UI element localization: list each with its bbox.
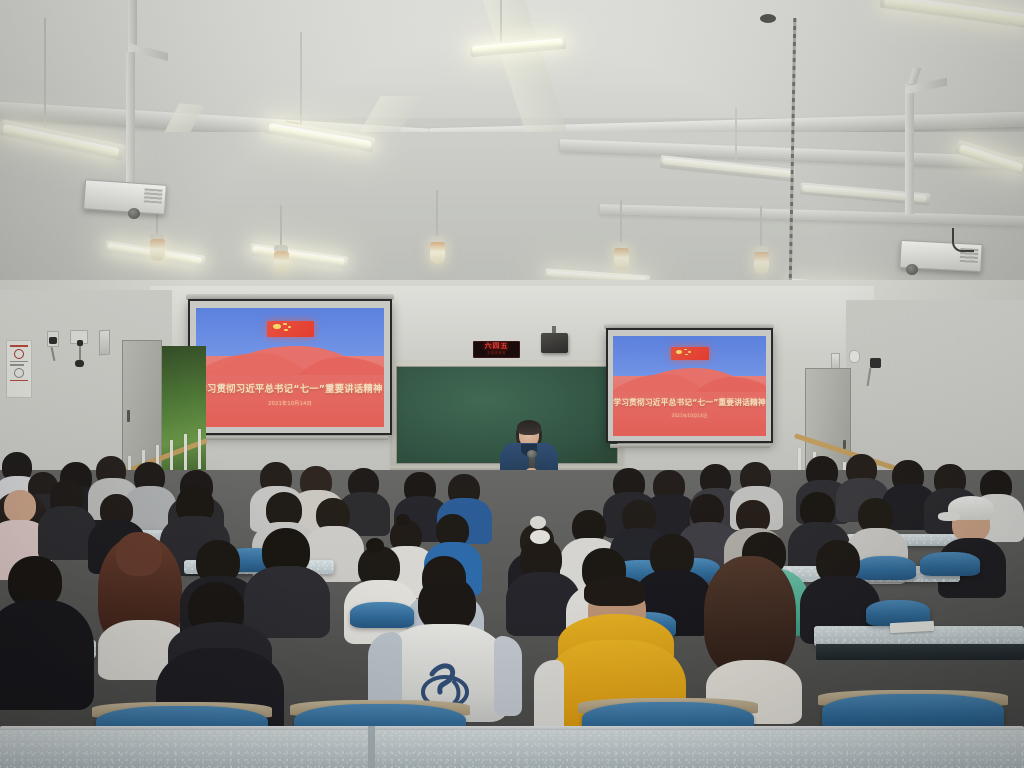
- led-room-sign: 六四五 多媒体教室: [473, 341, 520, 358]
- chair[interactable]: [350, 602, 414, 628]
- pendant-lamp: [150, 239, 165, 261]
- camera-dome-icon: [75, 360, 84, 367]
- speaker-hair: [517, 420, 541, 435]
- right-slide-date: 2021年10月14日: [613, 413, 766, 419]
- security-camera: [849, 350, 860, 363]
- wall-speaker-box: [99, 330, 110, 356]
- wall-speaker: [541, 333, 568, 353]
- pendant-lamp: [430, 242, 445, 264]
- chair[interactable]: [856, 556, 916, 580]
- right-screen-weight-bar: [610, 444, 770, 448]
- left-screen-weight-bar: [192, 436, 388, 440]
- chair[interactable]: [920, 552, 980, 576]
- long-hair-student: [704, 556, 796, 676]
- pendant-lamp: [614, 248, 629, 270]
- front-desk-surface[interactable]: [0, 730, 1024, 768]
- left-projector: [83, 179, 167, 215]
- left-projection-screen: 学习贯彻习近平总书记“七一”重要讲话精神 2021年10月14日: [188, 299, 392, 435]
- left-slide: 学习贯彻习近平总书记“七一”重要讲话精神 2021年10月14日: [196, 308, 384, 427]
- right-projection-screen: 学习贯彻习近平总书记“七一”重要讲话精神 2021年10月14日: [606, 328, 773, 443]
- pendant-lamp: [754, 252, 769, 274]
- led-sign-subtext: 多媒体教室: [487, 352, 506, 355]
- flag-emblem-icon: [267, 321, 314, 336]
- safety-notice-poster: [6, 340, 32, 398]
- chain-anchor: [760, 14, 776, 23]
- led-sign-text: 六四五: [485, 343, 509, 350]
- left-slide-date: 2021年10月14日: [196, 400, 384, 407]
- left-slide-title: 学习贯彻习近平总书记“七一”重要讲话精神: [196, 381, 384, 395]
- light-hanger-rod: [44, 18, 46, 130]
- right-slide-title: 学习贯彻习近平总书记“七一”重要讲话精神: [613, 397, 766, 408]
- lecture-hall-photo: 六四五 多媒体教室 学习贯彻习近平总书记“七一”重要讲话精神 2021年10月1…: [0, 0, 1024, 768]
- right-slide: 学习贯彻习近平总书记“七一”重要讲话精神 2021年10月14日: [613, 336, 766, 436]
- wall-conduit-box: [831, 353, 840, 369]
- flag-emblem-icon: [671, 347, 709, 360]
- pendant-lamp: [274, 251, 289, 273]
- ceiling: [0, 0, 1024, 300]
- microphone-head-icon: [527, 450, 537, 458]
